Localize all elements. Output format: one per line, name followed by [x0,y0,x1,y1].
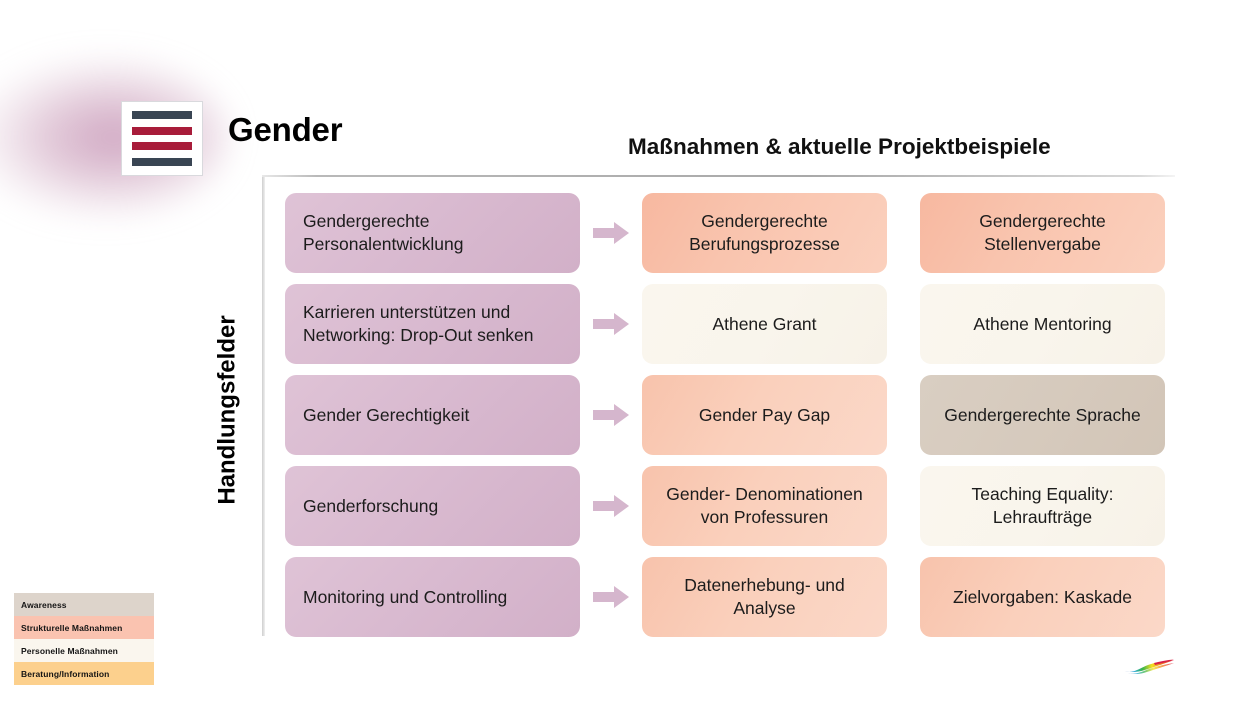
measure-cell[interactable]: Zielvorgaben: Kaskade [920,557,1165,637]
section-title: Maßnahmen & aktuelle Projektbeispiele [628,134,1051,160]
matrix-row: Gender Gerechtigkeit Gender Pay Gap Gend… [285,375,1175,455]
axis-label-handlungsfelder: Handlungsfelder [205,270,251,550]
page-title: Gender [228,111,342,149]
legend-item[interactable]: Awareness [14,593,154,616]
measure-cell[interactable]: Athene Mentoring [920,284,1165,364]
measure-cell[interactable]: Gendergerechte Stellenvergabe [920,193,1165,273]
measure-cell[interactable]: Gender- Denominationen von Professuren [642,466,887,546]
handlungsfeld-cell[interactable]: Karrieren unterstützen und Networking: D… [285,284,580,364]
logo-bar-dark-bottom [132,158,192,166]
measure-cell[interactable]: Teaching Equality: Lehraufträge [920,466,1165,546]
measure-cell[interactable]: Gendergerechte Berufungsprozesse [642,193,887,273]
measure-cell[interactable]: Gendergerechte Sprache [920,375,1165,455]
logo-bar-red-upper [132,127,192,135]
arrow-right-icon [580,557,642,637]
matrix-row: Karrieren unterstützen und Networking: D… [285,284,1175,364]
arrow-right-icon [580,375,642,455]
rainbow-swoosh-logo [1124,657,1176,677]
handlungsfeld-cell[interactable]: Monitoring und Controlling [285,557,580,637]
handlungsfeld-cell[interactable]: Genderforschung [285,466,580,546]
measure-cell[interactable]: Datenerhebung- und Analyse [642,557,887,637]
legend-item[interactable]: Personelle Maßnahmen [14,639,154,662]
logo-bar-red-lower [132,142,192,150]
arrow-right-icon [580,284,642,364]
handlungsfeld-cell[interactable]: Gendergerechte Personalentwicklung [285,193,580,273]
legend: Awareness Strukturelle Maßnahmen Persone… [14,593,154,685]
legend-item[interactable]: Beratung/Information [14,662,154,685]
axis-label-text: Handlungsfelder [214,315,242,504]
logo-bar-dark-top [132,111,192,119]
measure-cell[interactable]: Gender Pay Gap [642,375,887,455]
measures-matrix: Gendergerechte Personalentwicklung Gende… [285,193,1175,637]
handlungsfeld-cell[interactable]: Gender Gerechtigkeit [285,375,580,455]
matrix-row: Genderforschung Gender- Denominationen v… [285,466,1175,546]
legend-item[interactable]: Strukturelle Maßnahmen [14,616,154,639]
arrow-right-icon [580,193,642,273]
panel-left-divider [262,177,265,636]
arrow-right-icon [580,466,642,546]
four-bar-logo [121,101,203,176]
matrix-row: Gendergerechte Personalentwicklung Gende… [285,193,1175,273]
header-divider [262,175,1175,177]
measure-cell[interactable]: Athene Grant [642,284,887,364]
matrix-row: Monitoring und Controlling Datenerhebung… [285,557,1175,637]
